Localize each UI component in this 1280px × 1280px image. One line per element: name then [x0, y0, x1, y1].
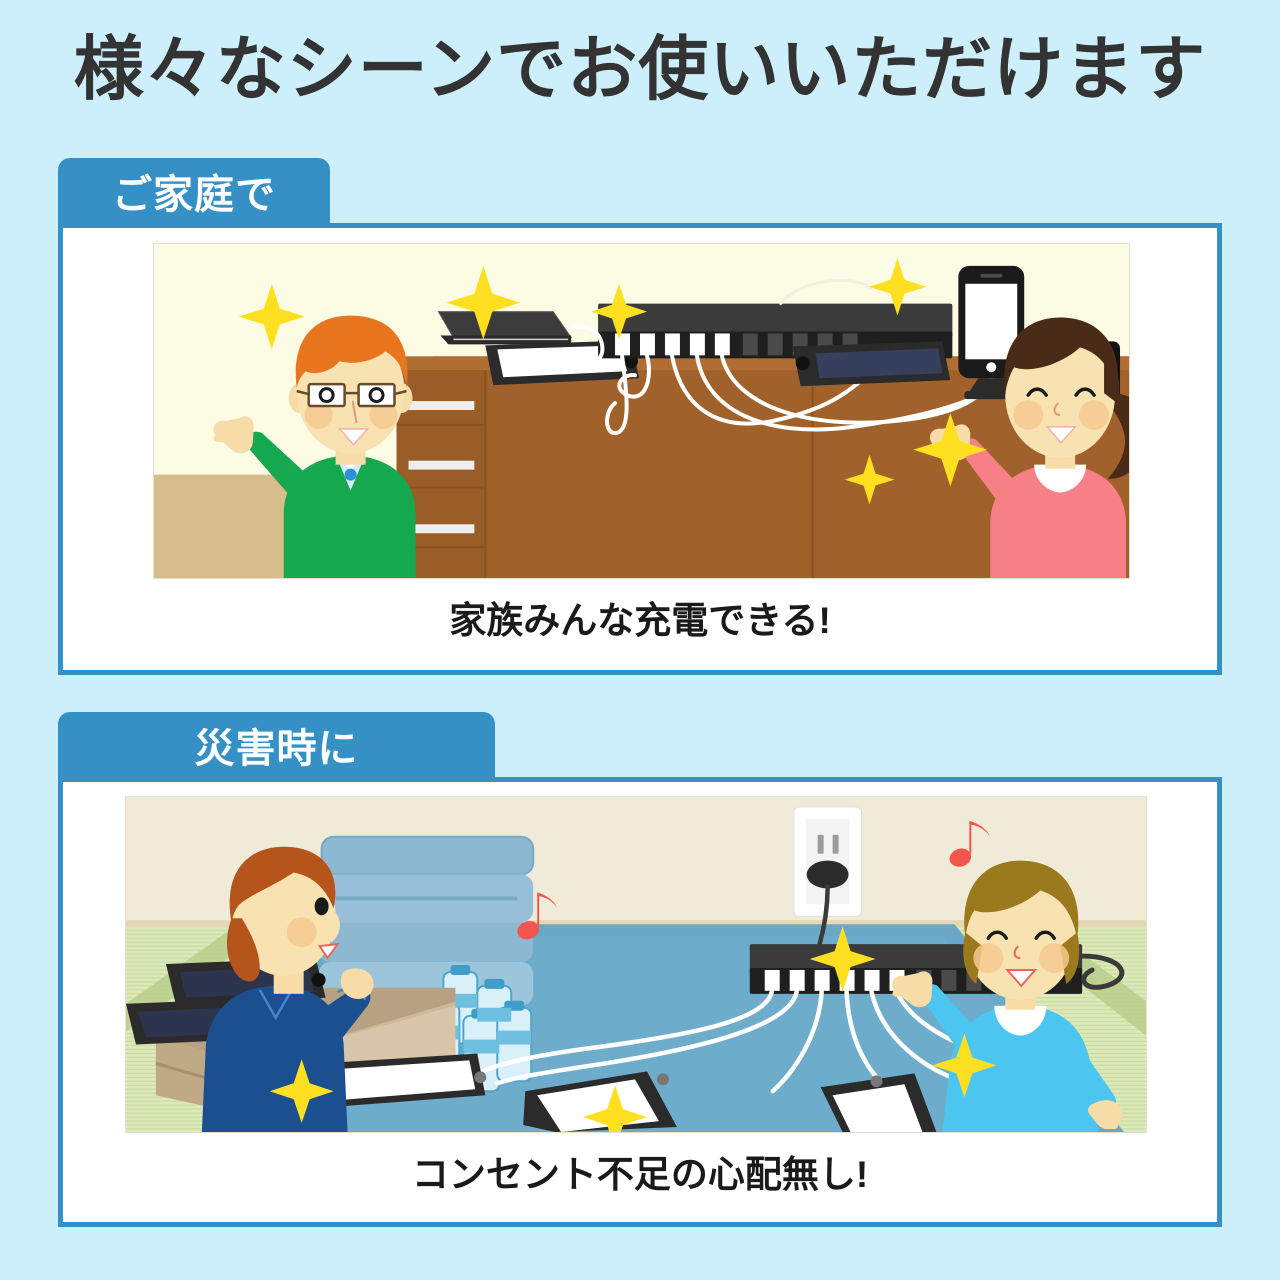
caption-home: 家族みんな充電できる!: [63, 590, 1217, 644]
tab-disaster[interactable]: 災害時に: [58, 712, 495, 778]
section-home: ご家庭で: [58, 158, 1222, 675]
tab-home-label: ご家庭で: [112, 162, 276, 220]
scene-home-illustration: [153, 243, 1130, 579]
panel-home: 家族みんな充電できる!: [58, 223, 1222, 675]
caption-disaster: コンセント不足の心配無し!: [63, 1144, 1217, 1198]
tab-disaster-label: 災害時に: [195, 716, 359, 774]
section-disaster: 災害時に: [58, 712, 1222, 1227]
scene-disaster-illustration: [125, 796, 1147, 1133]
page-title: 様々なシーンでお使いいただけます: [0, 26, 1280, 112]
panel-disaster: コンセント不足の心配無し!: [58, 777, 1222, 1227]
laptop-device: [438, 312, 571, 345]
tablet-device-right: [793, 341, 951, 386]
tab-home[interactable]: ご家庭で: [58, 158, 330, 224]
